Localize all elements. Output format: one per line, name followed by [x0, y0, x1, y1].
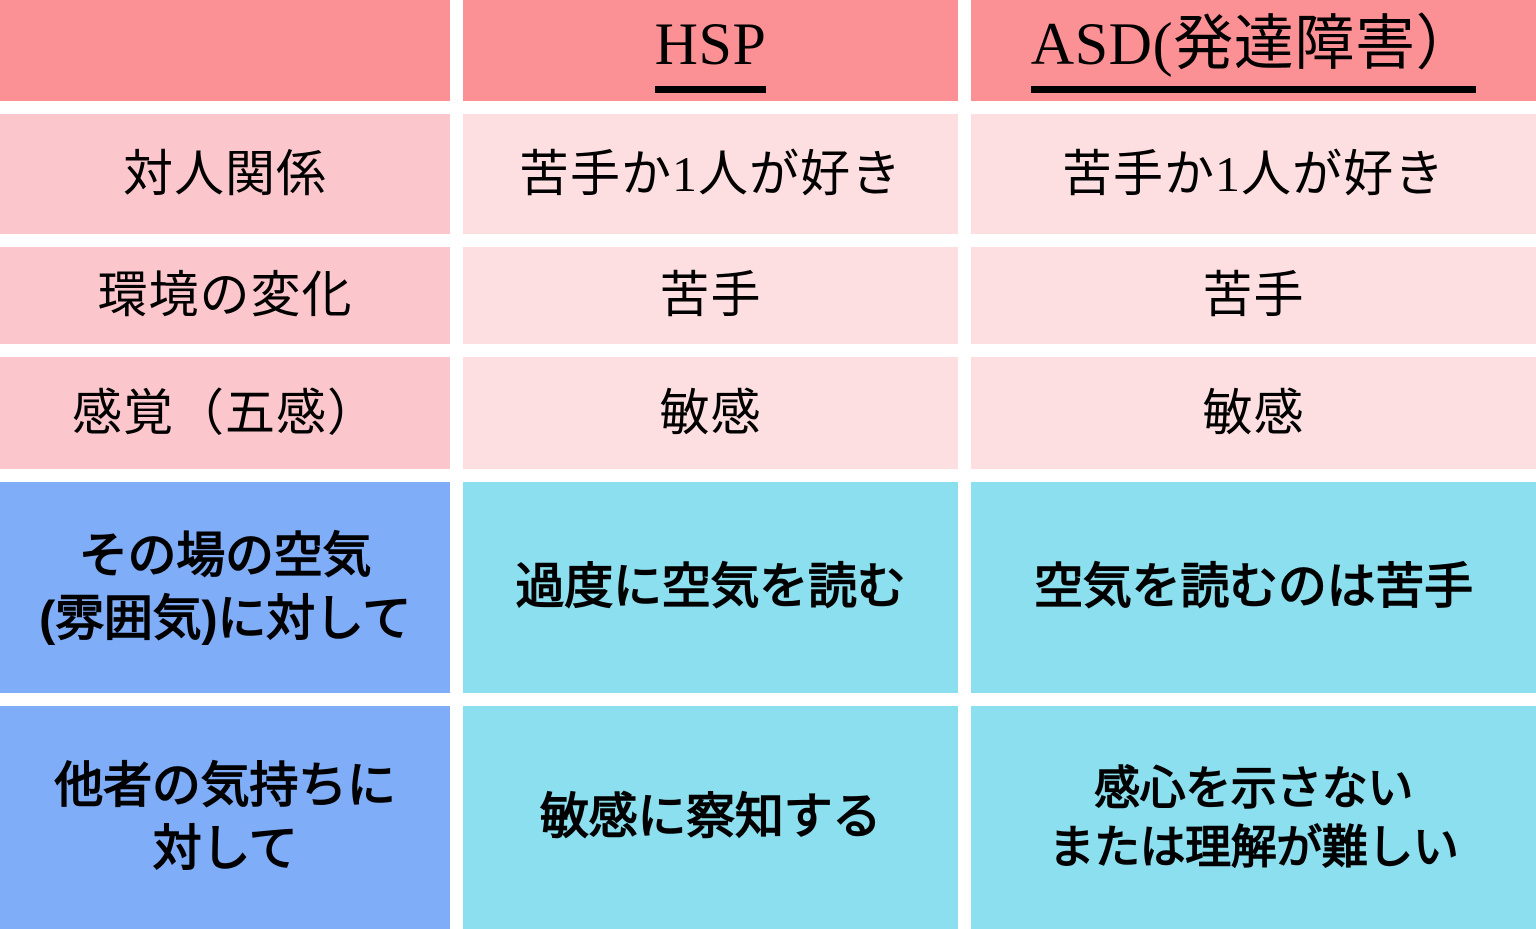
- cell-text: 苦手: [660, 265, 762, 326]
- table-row-1-hsp: 苦手か1人が好き: [463, 114, 958, 234]
- cell-text: 対人関係: [123, 144, 327, 205]
- cell-text: 敏感: [660, 383, 762, 444]
- table-row-4-asd: 空気を読むのは苦手: [971, 482, 1536, 693]
- cell-text-line-2: または理解が難しい: [1049, 821, 1459, 873]
- cell-text-multiline: 感心を示さない または理解が難しい: [1049, 759, 1459, 877]
- table-row-1-category: 対人関係: [0, 114, 450, 234]
- cell-text: 苦手: [1203, 265, 1305, 326]
- header-label-hsp: HSP: [655, 8, 767, 92]
- table-row-2-category: 環境の変化: [0, 247, 450, 344]
- table-row-5-category: 他者の気持ちに 対して: [0, 706, 450, 929]
- cell-text-multiline: 他者の気持ちに 対して: [54, 755, 395, 880]
- table-row-5-asd: 感心を示さない または理解が難しい: [971, 706, 1536, 929]
- cell-text-line-1: 感心を示さない: [1094, 762, 1413, 814]
- table-row-4-category: その場の空気 (雰囲気)に対して: [0, 482, 450, 693]
- cell-text: 空気を読むのは苦手: [1034, 558, 1473, 618]
- header-cell-hsp: HSP: [463, 0, 958, 101]
- header-cell-asd: ASD(発達障害）: [971, 0, 1536, 101]
- cell-text: 敏感: [1203, 383, 1305, 444]
- table-row-4-hsp: 過度に空気を読む: [463, 482, 958, 693]
- header-cell-category: [0, 0, 450, 101]
- cell-text: 感覚（五感）: [72, 383, 378, 444]
- header-label-asd: ASD(発達障害）: [1031, 8, 1476, 92]
- cell-text: 苦手か1人が好き: [519, 144, 902, 205]
- table-row-3-asd: 敏感: [971, 357, 1536, 469]
- table-row-3-hsp: 敏感: [463, 357, 958, 469]
- table-row-1-asd: 苦手か1人が好き: [971, 114, 1536, 234]
- cell-text: 敏感に察知する: [540, 788, 881, 848]
- table-row-2-hsp: 苦手: [463, 247, 958, 344]
- comparison-table: HSP ASD(発達障害） 対人関係 苦手か1人が好き 苦手か1人が好き 環境の…: [0, 0, 1536, 864]
- cell-text-line-1: 他者の気持ちに: [54, 759, 395, 813]
- cell-text: 環境の変化: [98, 265, 353, 326]
- cell-text-line-2: (雰囲気)に対して: [39, 592, 411, 646]
- cell-text: 苦手か1人が好き: [1062, 144, 1445, 205]
- cell-text-line-1: その場の空気: [79, 529, 372, 583]
- table-row-2-asd: 苦手: [971, 247, 1536, 344]
- cell-text-multiline: その場の空気 (雰囲気)に対して: [39, 525, 411, 650]
- table-row-5-hsp: 敏感に察知する: [463, 706, 958, 929]
- table-row-3-category: 感覚（五感）: [0, 357, 450, 469]
- cell-text-line-2: 対して: [153, 822, 298, 876]
- cell-text: 過度に空気を読む: [515, 558, 905, 618]
